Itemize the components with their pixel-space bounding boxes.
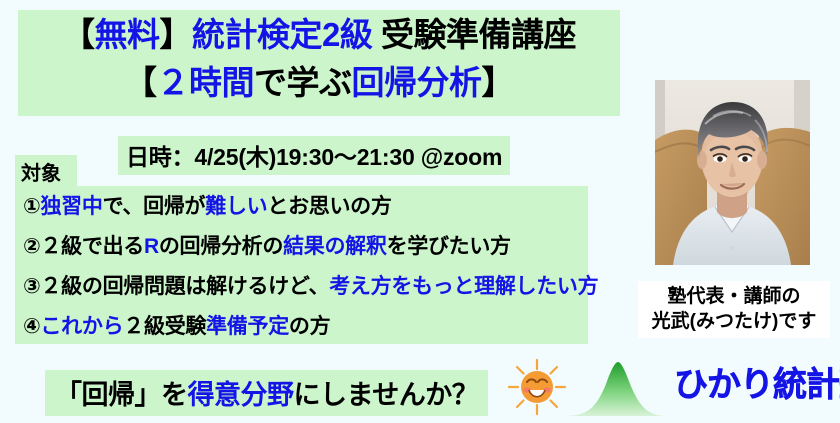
bullet-seg: ２級受験 (123, 315, 206, 338)
audience-heading: 対象 (15, 155, 77, 189)
bullet-seg: 結果の解釈 (283, 235, 387, 258)
bullet-marker: ④ (23, 315, 40, 338)
title-bracket-close: 】 (159, 16, 192, 53)
title-line-1: 【無料】統計検定2級 受験準備講座 (18, 12, 620, 58)
bell-curve-icon (562, 358, 670, 418)
instructor-photo (655, 80, 810, 265)
bullet-seg: 難しい (205, 195, 267, 218)
subtitle-topic: 回帰分析 (352, 64, 482, 101)
list-item: ②２級で出るRの回帰分析の結果の解釈を学びたい方 (23, 234, 511, 260)
bullet-seg: 準備予定 (206, 315, 289, 338)
poster-canvas: 【無料】統計検定2級 受験準備講座 【２時間で学ぶ回帰分析】 日時：4/25(木… (0, 0, 840, 420)
instructor-caption: 塾代表・講師の 光武(みつたけ)です (638, 281, 830, 338)
bullet-seg: これから (40, 315, 123, 338)
subtitle-verb: で学ぶ (254, 64, 352, 101)
audience-list: ①独習中で、回帰が難しいとお思いの方 ②２級で出るRの回帰分析の結果の解釈を学び… (15, 186, 588, 344)
list-item: ①独習中で、回帰が難しいとお思いの方 (23, 194, 392, 220)
slogan-seg: 得意分野 (188, 380, 294, 410)
bullet-seg: とお思いの方 (267, 195, 391, 218)
bullet-seg: を学びたい方 (387, 235, 511, 258)
bullet-marker: ① (23, 195, 40, 218)
caption-line-2: 光武(みつたけ)です (638, 309, 830, 334)
bullet-seg: ２級で出る (40, 235, 144, 258)
bullet-seg: で、回帰が (103, 195, 206, 218)
brand-logo: ひかり統計塾 (506, 356, 836, 418)
schedule-banner: 日時：4/25(木)19:30〜21:30 @zoom (118, 136, 510, 175)
caption-line-1: 塾代表・講師の (638, 284, 830, 309)
bullet-marker: ② (23, 235, 40, 258)
slogan-seg: 「回帰」を (55, 380, 188, 410)
title-free-label: 無料 (94, 16, 159, 53)
title-bracket-open: 【 (62, 16, 95, 53)
bullet-seg: 独習中 (40, 195, 102, 218)
bullet-seg: の方 (289, 315, 330, 338)
bullet-seg: の回帰分析の (159, 235, 283, 258)
bullet-seg: 考え方をもっと理解したい方 (329, 275, 598, 298)
brand-name: ひかり統計塾 (674, 360, 840, 410)
list-item: ④これから２級受験準備予定の方 (23, 314, 330, 340)
subtitle-duration: ２時間 (157, 64, 255, 101)
slogan-banner: 「回帰」を得意分野にしませんか？ (45, 370, 488, 416)
bullet-marker: ③ (23, 275, 40, 298)
slogan-seg: にしませんか？ (294, 380, 479, 410)
subtitle-bracket-open: 【 (124, 64, 157, 101)
title-line-2: 【２時間で学ぶ回帰分析】 (18, 60, 620, 106)
subtitle-bracket-close: 】 (482, 64, 515, 101)
list-item: ③２級の回帰問題は解けるけど、考え方をもっと理解したい方 (23, 274, 598, 300)
bullet-seg: ２級の回帰問題は解けるけど、 (40, 275, 329, 298)
title-course-suffix: 受験準備講座 (372, 16, 576, 53)
title-exam-name: 統計検定2級 (192, 16, 372, 53)
bullet-seg: R (144, 235, 159, 258)
sun-icon (506, 357, 568, 417)
title-banner: 【無料】統計検定2級 受験準備講座 【２時間で学ぶ回帰分析】 (18, 10, 620, 116)
